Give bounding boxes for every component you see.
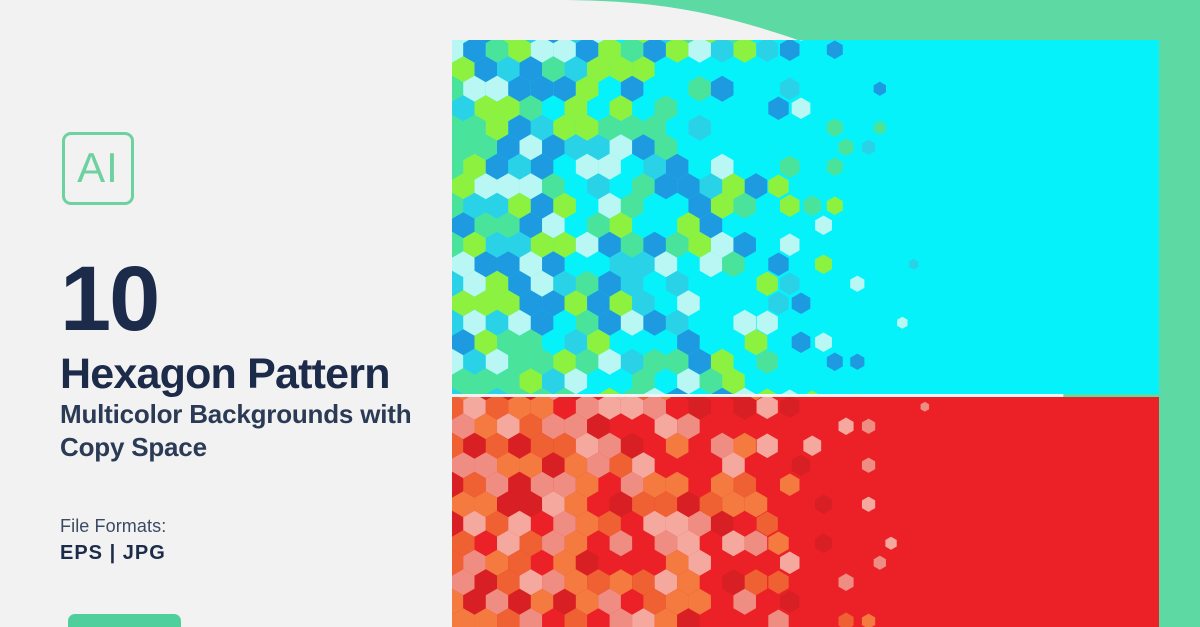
hexagon-cell [792, 97, 811, 119]
hexagon-cell [780, 397, 800, 418]
ai-format-badge: AI [62, 132, 134, 205]
hexagon-cell [757, 433, 778, 458]
hexagon-cell [921, 402, 929, 412]
hexagon-cell [850, 354, 864, 370]
hexagon-cell [827, 158, 843, 176]
hexagon-cell [757, 310, 778, 335]
hexagon-cell [815, 333, 832, 353]
hexagon-cell [850, 276, 864, 292]
hexagon-cell [803, 390, 821, 394]
hexagon-cell [666, 40, 689, 63]
hexagon-cell [792, 292, 811, 314]
file-formats-value: EPS | JPG [60, 542, 166, 565]
hexagon-cell [803, 195, 821, 216]
hexagon-cell [827, 41, 843, 59]
hexagon-cell [757, 397, 778, 419]
hexagon-cell [792, 40, 811, 41]
hexagon-cell [839, 574, 854, 591]
hexagon-cell [815, 255, 832, 275]
hexagon-cell [839, 613, 854, 627]
red-hexagon-preview[interactable] [452, 397, 1159, 627]
hexagon-cell [874, 82, 886, 96]
hexagon-cell [909, 259, 918, 270]
hexagon-cell [780, 590, 800, 613]
hexagon-cell [768, 96, 788, 120]
hexagon-cell [711, 40, 734, 63]
hexagon-cell [839, 139, 854, 156]
hexagon-cell [768, 531, 788, 555]
hexagon-cell [862, 140, 875, 155]
hexagon-cell [780, 40, 800, 61]
hexagon-cell [688, 40, 711, 63]
hexagon-cell [792, 454, 811, 476]
hexagon-cell [815, 216, 832, 236]
hexagon-cell [780, 389, 800, 394]
hexagon-cell [757, 271, 778, 296]
red-hexagon-pattern [452, 397, 1159, 627]
hexagon-cell [733, 397, 756, 420]
hexagon-cell [768, 291, 788, 315]
hexagon-cell [874, 121, 886, 135]
hexagon-cell [768, 252, 788, 276]
hexagon-cell [688, 115, 711, 141]
hexagon-cell [768, 609, 788, 627]
hexagon-cell [780, 473, 800, 496]
page-subtitle: Multicolor Backgrounds with Copy Space [60, 398, 440, 465]
hexagon-cell [862, 458, 875, 473]
hexagon-cell [815, 534, 832, 554]
hexagon-cell [780, 272, 800, 295]
promo-banner: AI 10 Hexagon Pattern Multicolor Backgro… [0, 0, 1200, 627]
hexagon-cell [803, 435, 821, 456]
cyan-hexagon-preview[interactable] [452, 40, 1159, 394]
hexagon-cell [780, 233, 800, 256]
hexagon-cell [745, 530, 768, 556]
hexagon-cell [711, 76, 734, 102]
hexagon-cell [827, 119, 843, 137]
hexagon-cell [780, 155, 800, 178]
hexagon-cell [768, 570, 788, 594]
item-count: 10 [60, 253, 158, 345]
hexagon-cell [757, 40, 778, 62]
hexagon-cell [757, 349, 778, 374]
hexagon-cell [815, 495, 832, 515]
hexagon-cell [757, 388, 778, 394]
hexagon-cell [862, 497, 875, 512]
hexagon-cell [780, 77, 800, 100]
hexagon-cell [768, 174, 788, 198]
ai-badge-label: AI [77, 147, 119, 189]
hexagon-cell [827, 197, 843, 215]
download-button[interactable]: Download [68, 614, 181, 627]
file-formats-label: File Formats: [60, 516, 166, 537]
hexagon-cell [897, 317, 907, 329]
hexagon-cell [780, 551, 800, 574]
hexagon-cell [780, 194, 800, 217]
hexagon-cell [862, 419, 875, 434]
hexagon-cell [792, 331, 811, 353]
hexagon-cell [839, 418, 854, 435]
hexagon-cell [885, 537, 896, 550]
page-title: Hexagon Pattern [60, 353, 390, 396]
hexagon-cell [621, 397, 644, 420]
hexagon-cell [688, 76, 711, 102]
hexagon-cell [733, 40, 756, 63]
hexagon-cell [862, 614, 875, 627]
hexagon-cell [827, 353, 843, 371]
hexagon-cell [757, 511, 778, 536]
hexagon-cell [598, 388, 621, 394]
hexagon-cell [850, 393, 864, 394]
cyan-hexagon-pattern [452, 40, 1159, 394]
hexagon-cell [874, 556, 886, 570]
info-column: AI 10 Hexagon Pattern Multicolor Backgro… [0, 0, 452, 627]
